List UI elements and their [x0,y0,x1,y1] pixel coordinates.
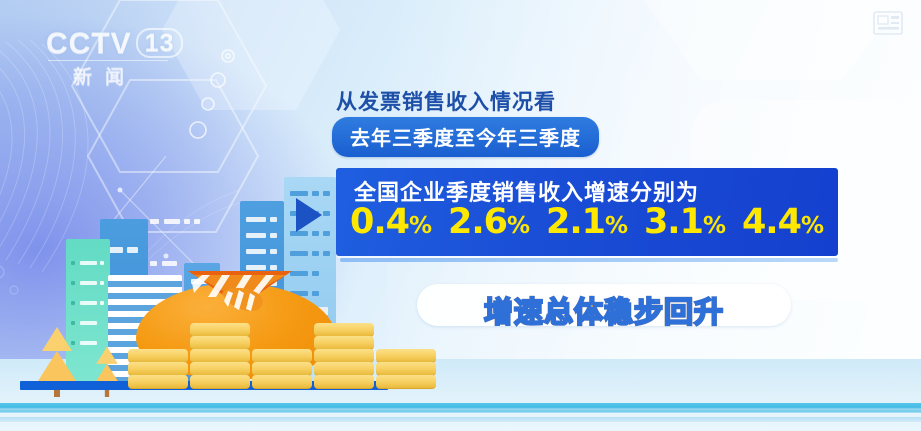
percent-item: 2.1% [546,204,628,244]
money-bag-knot [220,287,266,313]
gold-coin-stack [314,324,374,389]
percent-value: 2.6 [448,202,507,242]
ground-stripe-secondary [0,417,921,422]
statistics-banner: 全国企业季度销售收入增速分别为 0.4% 2.6% 2.1% 3.1% 4.4% [336,168,838,256]
logo-subtitle: 新闻 [46,62,164,89]
percent-item: 2.6% [448,204,530,244]
conclusion-text: 增速总体稳步回升 [417,289,791,331]
percent-value: 3.1 [644,202,703,242]
logo-underline [48,60,168,61]
percent-item: 3.1% [644,204,726,244]
percent-value: 2.1 [546,202,605,242]
gold-coin-stack [128,350,188,389]
percent-symbol: % [605,213,628,239]
percent-item: 4.4% [742,204,824,244]
percent-item: 0.4% [350,204,432,244]
conclusion-badge: 增速总体稳步回升 [417,284,791,326]
gold-coin-stack [190,324,250,389]
broadcast-graphic: CCTV13 新闻 [0,0,921,431]
percent-symbol: % [703,213,726,239]
percent-symbol: % [507,213,530,239]
percent-value: 4.4 [742,202,801,242]
logo-wordmark: CCTV13 [46,28,196,60]
gold-coin-stack [252,350,312,389]
tree [93,354,120,397]
gold-coin-stack [376,350,436,389]
percent-symbol: % [409,213,432,239]
page-title: 从发票销售收入情况看 [336,86,556,116]
banner-underline [340,258,838,262]
city-skyline-illustration [0,149,360,409]
cctv13-logo: CCTV13 新闻 [46,28,196,84]
logo-channel-number: 13 [136,28,184,58]
pointer-arrow-icon [296,198,322,232]
percent-symbol: % [801,213,824,239]
news-watermark-icon [873,10,903,36]
period-badge: 去年三季度至今年三季度 [332,117,599,157]
logo-text: CCTV [46,27,132,60]
percent-list: 0.4% 2.6% 2.1% 3.1% 4.4% [350,204,824,244]
percent-value: 0.4 [350,202,409,242]
